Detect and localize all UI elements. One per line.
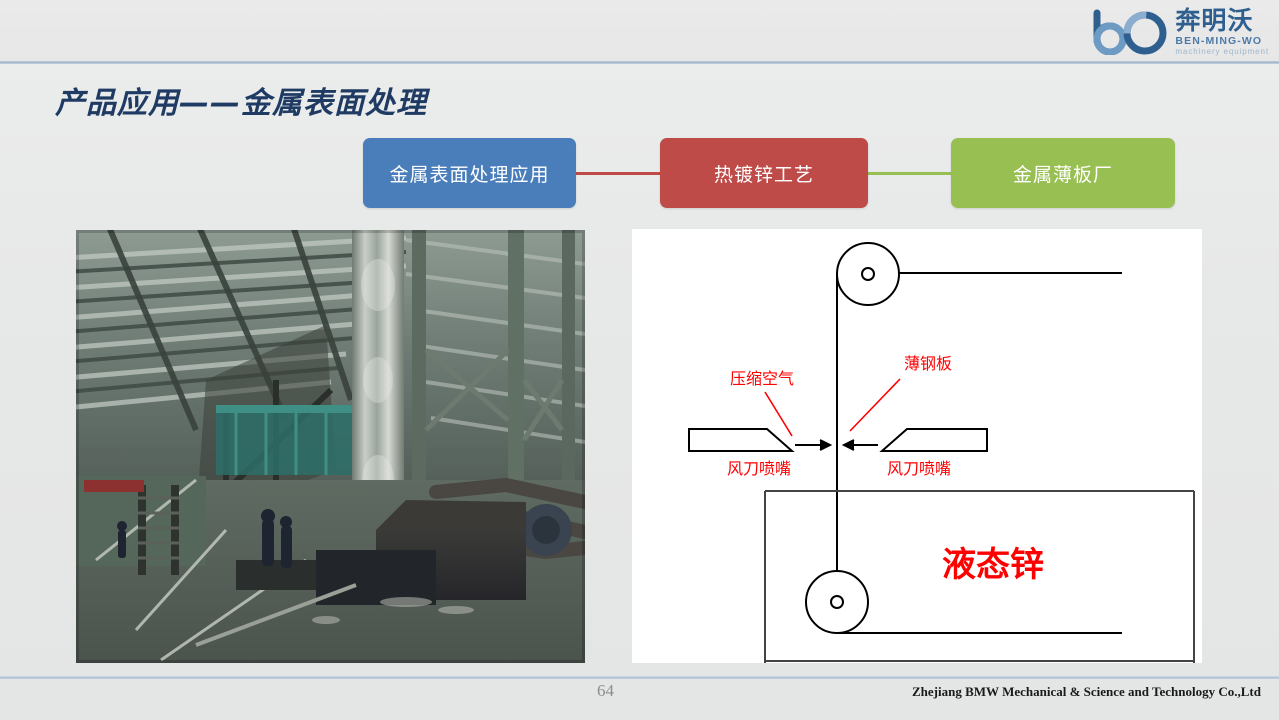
logo-english-name: BEN-MING-WO — [1175, 36, 1269, 47]
header-band — [0, 0, 1279, 62]
label-compressed-air: 压缩空气 — [730, 369, 794, 388]
logo-tagline: machinery equipment — [1175, 48, 1269, 56]
page-title: 产品应用——金属表面处理 — [55, 78, 427, 122]
logo-chinese-name: 奔明沃 — [1175, 8, 1269, 33]
label-nozzle-left: 风刀喷嘴 — [727, 459, 791, 478]
factory-photo — [76, 230, 585, 663]
company-footer: Zhejiang BMW Mechanical & Science and Te… — [912, 684, 1261, 700]
label-strip: 薄钢板 — [904, 354, 952, 373]
header-divider — [0, 61, 1279, 64]
page-number: 64 — [597, 681, 614, 701]
chain-step-factory[interactable]: 金属薄板厂 — [951, 138, 1175, 208]
logo-text-block: 奔明沃 BEN-MING-WO machinery equipment — [1175, 8, 1269, 57]
chain-step-process[interactable]: 热镀锌工艺 — [660, 138, 868, 208]
label-nozzle-right: 风刀喷嘴 — [887, 459, 951, 478]
label-zinc-bath: 液态锌 — [942, 545, 1044, 585]
logo-bo-mark — [1091, 9, 1169, 55]
chain-step-application[interactable]: 金属表面处理应用 — [363, 138, 576, 208]
process-chain: 金属表面处理应用 热镀锌工艺 金属薄板厂 — [363, 138, 1175, 210]
chain-connector-1 — [576, 172, 660, 175]
footer-divider — [0, 676, 1279, 679]
galvanizing-diagram-content: 薄钢板 压缩空气 风刀喷嘴 风刀喷嘴 液态锌 — [632, 229, 1202, 663]
galvanizing-diagram: 薄钢板 压缩空气 风刀喷嘴 风刀喷嘴 液态锌 — [632, 229, 1202, 663]
factory-photo-content — [76, 230, 585, 663]
chain-connector-2 — [868, 172, 951, 175]
company-logo[interactable]: 奔明沃 BEN-MING-WO machinery equipment — [1091, 4, 1269, 60]
slide-canvas: 奔明沃 BEN-MING-WO machinery equipment 产品应用… — [0, 0, 1279, 720]
